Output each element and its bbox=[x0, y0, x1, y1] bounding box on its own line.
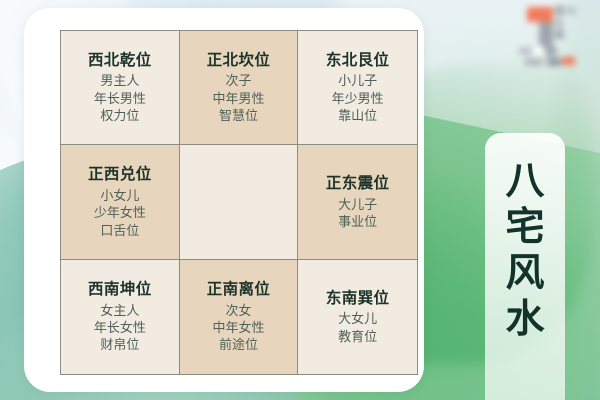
grid-cell-northwest-qian[interactable]: 西北乾位 男主人 年长男性 权力位 bbox=[61, 31, 180, 145]
cell-title: 正南离位 bbox=[207, 280, 271, 300]
poster-stage: 西北乾位 男主人 年长男性 权力位 正北坎位 次子 中年男性 智慧位 东北艮位 … bbox=[0, 0, 600, 400]
grid-cell-southeast-xun[interactable]: 东南巽位 大女儿 教育位 bbox=[298, 260, 417, 374]
cell-line: 年长女性 bbox=[94, 319, 146, 336]
cell-title: 正西兑位 bbox=[88, 165, 152, 185]
cell-line: 小儿子 bbox=[338, 72, 377, 89]
cell-line: 智慧位 bbox=[219, 107, 258, 124]
grid-cell-south-li[interactable]: 正南离位 次女 中年女性 前途位 bbox=[180, 260, 299, 374]
cell-line: 大儿子 bbox=[338, 196, 377, 213]
cell-line: 教育位 bbox=[338, 328, 377, 345]
cell-line: 次女 bbox=[225, 302, 251, 319]
grid-cell-east-zhen[interactable]: 正东震位 大儿子 事业位 bbox=[298, 145, 417, 259]
cell-line: 事业位 bbox=[338, 213, 377, 230]
cell-line: 中年女性 bbox=[212, 319, 264, 336]
vertical-title-char: 水 bbox=[505, 297, 544, 343]
grid-cell-southwest-kun[interactable]: 西南坤位 女主人 年长女性 财帛位 bbox=[61, 260, 180, 374]
cell-line: 年长男性 bbox=[94, 90, 146, 107]
cell-title: 正东震位 bbox=[326, 174, 390, 194]
cell-line: 小女儿 bbox=[100, 187, 139, 204]
cell-line: 男主人 bbox=[100, 72, 139, 89]
bagua-direction-grid: 西北乾位 男主人 年长男性 权力位 正北坎位 次子 中年男性 智慧位 东北艮位 … bbox=[60, 30, 418, 375]
cell-line: 次子 bbox=[225, 72, 251, 89]
cell-line: 财帛位 bbox=[100, 336, 139, 353]
vertical-title-char: 风 bbox=[505, 251, 544, 297]
cell-title: 西北乾位 bbox=[88, 51, 152, 71]
cell-title: 东北艮位 bbox=[326, 51, 390, 71]
cell-line: 口舌位 bbox=[100, 222, 139, 239]
vertical-title-char: 宅 bbox=[505, 205, 544, 251]
vertical-title-panel: 八 宅 风 水 bbox=[485, 133, 565, 400]
grid-cell-center-empty[interactable] bbox=[180, 145, 299, 259]
vertical-title-char: 八 bbox=[505, 159, 544, 205]
cell-line: 靠山位 bbox=[338, 107, 377, 124]
cell-line: 大女儿 bbox=[338, 310, 377, 327]
cell-line: 女主人 bbox=[100, 302, 139, 319]
blurred-watermark-icon bbox=[515, 3, 583, 71]
cell-line: 年少男性 bbox=[332, 90, 384, 107]
cell-line: 中年男性 bbox=[212, 90, 264, 107]
grid-cell-north-kan[interactable]: 正北坎位 次子 中年男性 智慧位 bbox=[180, 31, 299, 145]
cell-title: 正北坎位 bbox=[207, 51, 271, 71]
cell-line: 权力位 bbox=[100, 107, 139, 124]
cell-line: 少年女性 bbox=[94, 204, 146, 221]
cell-line: 前途位 bbox=[219, 336, 258, 353]
cell-title: 西南坤位 bbox=[88, 280, 152, 300]
grid-cell-west-dui[interactable]: 正西兑位 小女儿 少年女性 口舌位 bbox=[61, 145, 180, 259]
grid-cell-northeast-gen[interactable]: 东北艮位 小儿子 年少男性 靠山位 bbox=[298, 31, 417, 145]
cell-title: 东南巽位 bbox=[326, 289, 390, 309]
